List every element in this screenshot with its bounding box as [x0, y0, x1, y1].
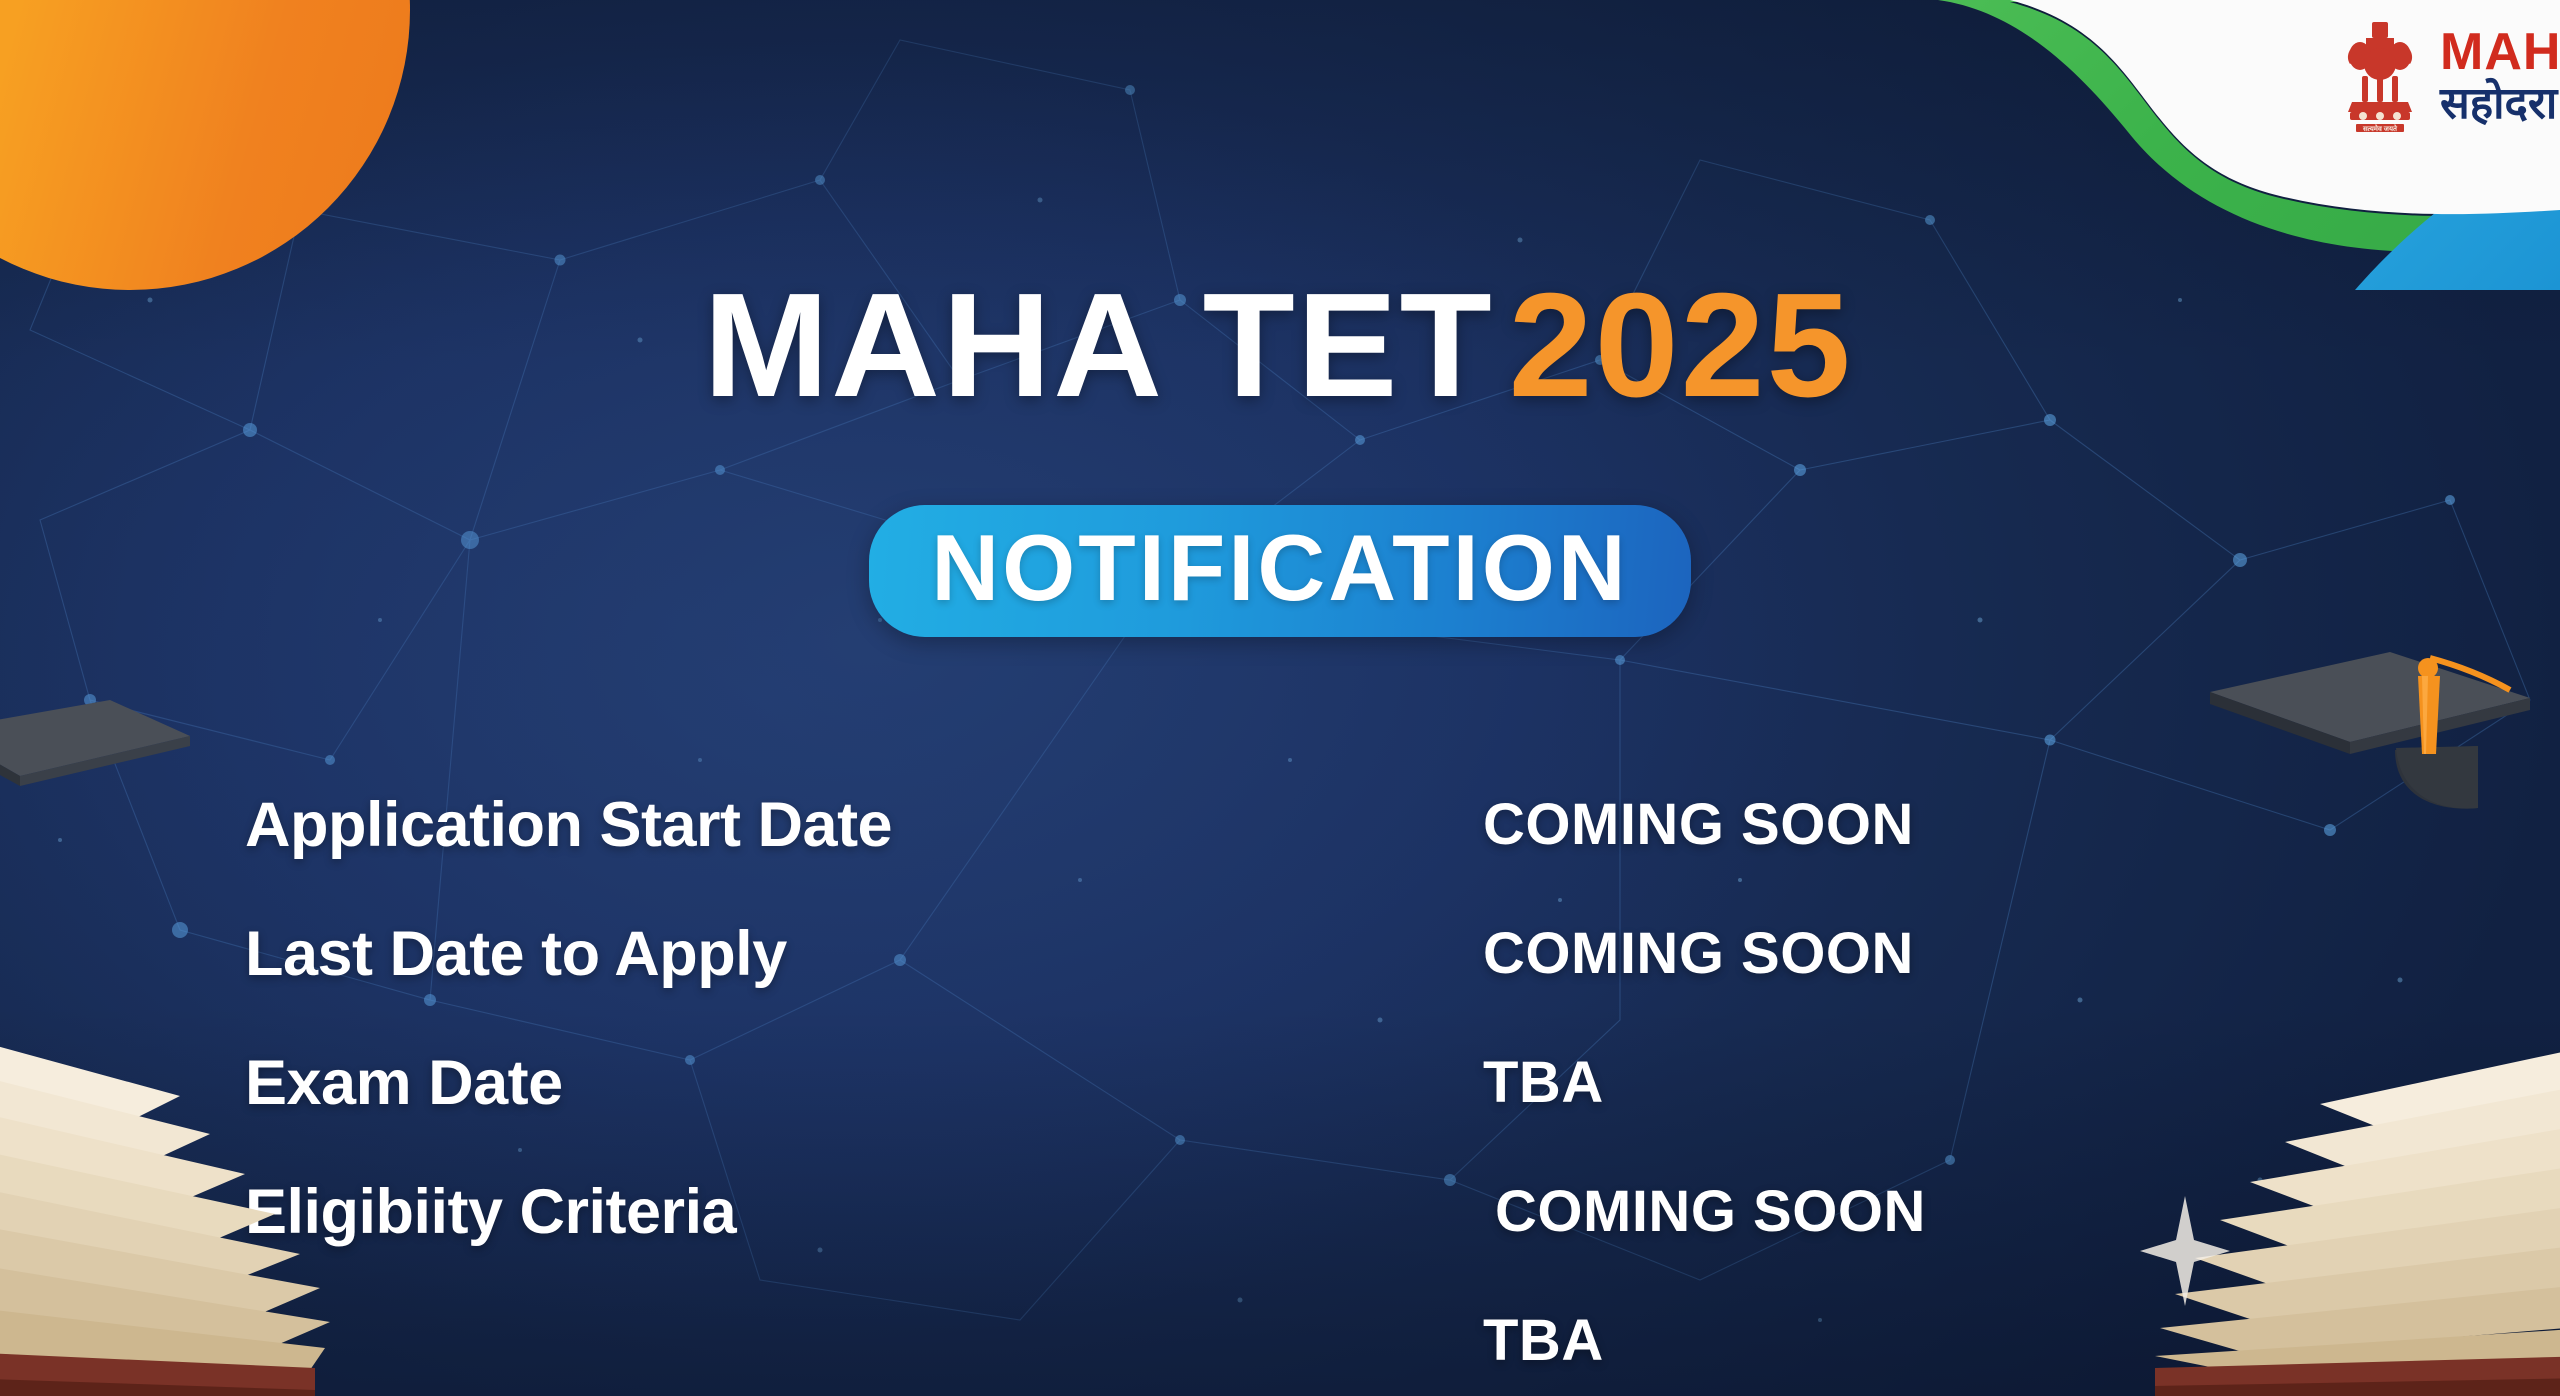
value-text: COMING SOON — [1483, 791, 1914, 858]
table-row-value: TBA — [1465, 1276, 2295, 1396]
title-year-text: 2025 — [1509, 272, 1853, 420]
value-text: TBA — [1483, 1307, 1604, 1374]
notification-details-table: Application Start Date COMING SOON Last … — [245, 760, 2295, 1396]
table-row-label: Eligibiity Criteria — [245, 1147, 1465, 1276]
svg-text:सत्यमेव जयते: सत्यमेव जयते — [2362, 124, 2398, 133]
table-row-label: Last Date to Apply — [245, 889, 1465, 1018]
title-main-text: MAHA TET — [703, 272, 1494, 420]
table-row-label: Exam Date — [245, 1018, 1465, 1147]
notification-badge-label: NOTIFICATION — [931, 515, 1628, 620]
maha-sahodara-logo: सत्यमेव जयते MAHA सहोदरा — [2336, 16, 2560, 136]
graduation-cap-illustration — [0, 690, 190, 800]
label-text: Last Date to Apply — [245, 918, 787, 990]
value-text: COMING SOON — [1483, 920, 1914, 987]
label-text: Exam Date — [245, 1047, 563, 1119]
value-text: COMING SOON — [1495, 1178, 1926, 1245]
label-text: Eligibiity Criteria — [245, 1176, 736, 1248]
notification-badge: NOTIFICATION — [869, 505, 1690, 637]
ashoka-lion-capital-emblem: सत्यमेव जयते — [2336, 16, 2424, 136]
logo-brand-primary: MAHA — [2440, 26, 2560, 78]
poster-canvas: सत्यमेव जयते MAHA सहोदरा MAHA TET2025 NO… — [0, 0, 2560, 1396]
logo-brand-secondary: सहोदरा — [2440, 82, 2560, 126]
notification-badge-wrapper: NOTIFICATION — [0, 505, 2560, 637]
table-row-value: TBA — [1465, 1018, 2295, 1147]
label-text: Application Start Date — [245, 789, 892, 861]
table-row-value: COMING SOON — [1465, 760, 2295, 889]
table-row-label-empty — [245, 1276, 1465, 1396]
orange-circle-decoration — [0, 0, 410, 290]
value-text: TBA — [1483, 1049, 1604, 1116]
poster-title: MAHA TET2025 — [0, 272, 2560, 420]
table-row-label: Application Start Date — [245, 760, 1465, 889]
table-row-value: COMING SOON — [1465, 889, 2295, 1018]
